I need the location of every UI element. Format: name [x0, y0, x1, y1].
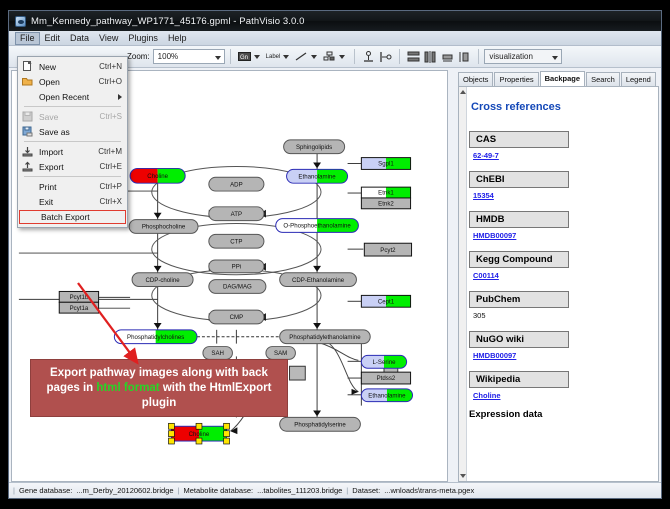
pathvisio-icon [15, 16, 26, 27]
dataset-value: ...wnloads\trans-meta.pgex [384, 486, 474, 495]
pathway-metabolite-node: SAM [266, 347, 296, 360]
status-divider-3: | [346, 486, 348, 495]
menu-item-batch-export[interactable]: Batch Export [19, 210, 126, 224]
selection-handle [196, 423, 202, 429]
node-label: CDP-choline [145, 277, 180, 284]
node-label: Ethanolamine [368, 392, 406, 399]
pathway-gene-node: Cept1 [361, 295, 410, 307]
pathway-metabolite-node: Ethanolamine [287, 169, 348, 183]
empty-icon-slot-4 [22, 211, 37, 224]
empty-icon-slot [20, 90, 35, 103]
sidebar-tabs: Objects Properties Backpage Search Legen… [449, 70, 659, 86]
menu-item-label: Export [35, 162, 100, 172]
same-width-icon[interactable] [440, 49, 455, 64]
pathway-metabolite-node: Phosphatidylcholines [114, 330, 197, 344]
node-label: ATP [231, 211, 242, 218]
xref-value[interactable]: 15354 [473, 191, 648, 200]
chevron-down-icon-2 [552, 56, 558, 60]
file-menu-dropdown[interactable]: New Ctrl+N Open Ctrl+O Open Recent Save … [17, 56, 128, 228]
window-title: Mm_Kennedy_pathway_WP1771_45176.gpml - P… [31, 16, 305, 27]
xref-value[interactable]: HMDB00097 [473, 231, 648, 240]
dataset-label: Dataset: [352, 486, 380, 495]
xref-header: ChEBI [469, 171, 569, 188]
menu-separator-3 [24, 176, 121, 177]
xref-value[interactable]: Choline [473, 391, 648, 400]
distribute-horizontal-icon[interactable] [423, 49, 438, 64]
menu-item-label: New [35, 62, 99, 72]
node-label: ADP [230, 181, 243, 188]
pathvisio-window: Mm_Kennedy_pathway_WP1771_45176.gpml - P… [8, 10, 662, 499]
node-label: CDP-Ethanolamine [292, 277, 345, 284]
menu-help[interactable]: Help [163, 32, 192, 45]
xref-header: NuGO wiki [469, 331, 569, 348]
selection-handle [224, 431, 230, 437]
label-dropdown-icon[interactable] [283, 55, 289, 59]
pathway-gene-node: Pcyt1b [59, 291, 98, 302]
pathway-metabolite-node: CMP [209, 310, 264, 324]
node-label: PPi [232, 264, 241, 271]
xref-link[interactable]: 62-49-7 [473, 151, 499, 160]
chevron-down-icon [215, 56, 221, 60]
tab-backpage[interactable]: Backpage [540, 71, 585, 86]
node-label: Phosphatidylcholines [127, 334, 184, 341]
zoom-label: Zoom: [127, 52, 150, 61]
node-label: Pcyt1b [70, 294, 89, 301]
zoom-value: 100% [158, 52, 178, 61]
gene-database-label: Gene database: [19, 486, 72, 495]
selection-handle [168, 431, 174, 437]
menu-item-new[interactable]: New Ctrl+N [18, 59, 127, 74]
menu-item-label: Save as [35, 127, 122, 137]
pathway-metabolite-node: Choline [168, 423, 229, 444]
zoom-select[interactable]: 100% [153, 49, 225, 64]
interaction-icon[interactable] [322, 49, 337, 64]
open-folder-icon [20, 75, 35, 88]
xref-link[interactable]: C00114 [473, 271, 499, 280]
xref-entry-chebi: ChEBI 15354 [469, 169, 648, 200]
pathway-gene-node: Ptdss2 [361, 372, 410, 384]
pathway-metabolite-node: Phosphatidylserine [280, 417, 361, 431]
menu-item-label: Print [35, 182, 100, 192]
backpage-content: Cross references CAS 62-49-7 ChEBI 15354… [458, 86, 659, 482]
status-divider-2: | [178, 486, 180, 495]
node-label: Phosphatidylserine [294, 422, 346, 429]
toolbar-separator-4 [478, 49, 479, 64]
menu-separator-1 [24, 106, 121, 107]
menu-item-shortcut: Ctrl+P [100, 182, 125, 191]
node-label: Sgpl1 [378, 161, 394, 168]
menu-edit[interactable]: Edit [40, 32, 66, 45]
pathway-metabolite-node: ATP [209, 207, 264, 221]
menu-plugins[interactable]: Plugins [123, 32, 163, 45]
xref-value[interactable]: 62-49-7 [473, 151, 648, 160]
save-disk-icon [20, 110, 35, 123]
label-icon[interactable]: Label [264, 54, 283, 60]
node-label: O-Phosphoethanolamine [283, 223, 351, 230]
node-label: CTP [230, 238, 242, 245]
tab-properties[interactable]: Properties [494, 72, 538, 86]
xref-header: HMDB [469, 211, 569, 228]
selection-handle [224, 423, 230, 429]
toolbar-separator [230, 49, 231, 64]
menu-item-shortcut: Ctrl+S [100, 112, 125, 121]
menu-view[interactable]: View [94, 32, 123, 45]
node-label: Choline [189, 431, 210, 438]
menu-item-label: Batch Export [37, 212, 123, 222]
selection-handle [168, 438, 174, 444]
xref-value[interactable]: C00114 [473, 271, 648, 280]
save-as-icon [20, 125, 35, 138]
tab-objects[interactable]: Objects [458, 72, 493, 86]
node-label: Pcyt2 [380, 247, 396, 254]
node-label: Phosphocholine [142, 224, 186, 231]
interaction-dropdown-icon[interactable] [339, 55, 345, 59]
menu-data[interactable]: Data [65, 32, 94, 45]
toolbar-separator-2 [354, 49, 355, 64]
pathway-gene-node: Etnk1 [361, 187, 410, 198]
pathway-metabolite-node: CDP-Ethanolamine [280, 273, 357, 287]
pathway-metabolite-node: CDP-choline [132, 273, 193, 287]
node-label: Phosphatidylethanolamine [289, 334, 361, 341]
svg-text:Gn: Gn [240, 55, 248, 61]
cross-references-title: Cross references [471, 101, 648, 113]
visualization-value: visualization [489, 52, 533, 61]
status-divider: | [13, 486, 15, 495]
node-label: SAH [211, 350, 224, 357]
annotation-text-after: with the HtmlExport plugin [142, 382, 272, 409]
align-top-icon[interactable] [361, 49, 376, 64]
menu-item-open-recent[interactable]: Open Recent [18, 89, 127, 104]
pathway-gene-node: Sgpl1 [361, 158, 410, 170]
pathway-gene-node: Pcyt1a [59, 302, 98, 313]
xref-entry-kegg: Kegg Compound C00114 [469, 249, 648, 280]
menu-separator-2 [24, 141, 121, 142]
toolbar-separator-3 [399, 49, 400, 64]
expression-data-label: Expression data [469, 409, 648, 420]
annotation-callout: Export pathway images along with back pa… [30, 359, 288, 417]
node-label: Ptdss2 [377, 375, 396, 382]
pathway-metabolite-node: CTP [209, 234, 264, 248]
menu-item-print[interactable]: Print Ctrl+P [18, 179, 127, 194]
menu-item-label: Open Recent [35, 92, 118, 102]
xref-value: 305 [473, 311, 648, 320]
menu-item-open[interactable]: Open Ctrl+O [18, 74, 127, 89]
xref-entry-nugo: NuGO wiki HMDB00097 [469, 329, 648, 360]
node-label: Etnk1 [378, 190, 394, 197]
status-bar: | Gene database: ...m_Derby_20120602.bri… [9, 482, 661, 498]
menu-item-shortcut: Ctrl+X [100, 197, 125, 206]
xref-header: PubChem [469, 291, 569, 308]
xref-header: Wikipedia [469, 371, 569, 388]
new-document-icon [20, 60, 35, 73]
menu-item-shortcut: Ctrl+E [100, 162, 125, 171]
node-label: Etnk2 [378, 201, 394, 208]
menu-item-shortcut: Ctrl+N [99, 62, 125, 71]
same-height-icon[interactable] [457, 49, 472, 64]
pathway-metabolite-node: Sphingolipids [284, 140, 345, 154]
datanode-dropdown-icon[interactable] [254, 55, 260, 59]
menu-item-export[interactable]: Export Ctrl+E [18, 159, 127, 174]
pathway-metabolite-node: DAG/MAG [209, 280, 266, 294]
xref-header: CAS [469, 131, 569, 148]
pathway-metabolite-node: O-Phosphoethanolamine [276, 219, 359, 233]
sidebar-panel: Objects Properties Backpage Search Legen… [449, 70, 659, 482]
distribute-vertical-icon[interactable] [406, 49, 421, 64]
pathway-metabolite-node: ADP [209, 177, 264, 191]
xref-link[interactable]: HMDB00097 [473, 351, 516, 360]
node-label: Ethanolamine [298, 174, 336, 181]
scroll-up-icon[interactable] [460, 88, 466, 94]
xref-entry-cas: CAS 62-49-7 [469, 129, 648, 160]
metabolite-database-value: ...tabolites_111203.bridge [257, 486, 342, 495]
pathway-metabolite-node: Choline [130, 168, 185, 183]
import-icon [20, 145, 35, 158]
xref-link[interactable]: 15354 [473, 191, 494, 200]
menu-item-save-as[interactable]: Save as [18, 124, 127, 139]
node-label: DAG/MAG [223, 284, 252, 291]
selection-handle [168, 423, 174, 429]
tab-search[interactable]: Search [586, 72, 620, 86]
xref-entry-pubchem: PubChem 305 [469, 289, 648, 320]
line-icon[interactable] [294, 49, 309, 64]
menu-item-import[interactable]: Import Ctrl+M [18, 144, 127, 159]
menu-item-shortcut: Ctrl+M [98, 147, 125, 156]
scroll-down-icon[interactable] [460, 474, 466, 480]
datanode-icon[interactable]: Gn [237, 49, 252, 64]
menu-item-label: Open [35, 77, 99, 87]
selection-handle [196, 438, 202, 444]
menu-item-label: Save [35, 112, 100, 122]
submenu-arrow-icon [118, 94, 122, 100]
xref-link[interactable]: HMDB00097 [473, 231, 516, 240]
menu-file[interactable]: File [15, 32, 40, 45]
empty-icon-slot-2 [20, 180, 35, 193]
menu-item-exit[interactable]: Exit Ctrl+X [18, 194, 127, 209]
pathway-gene-node: Pcyt2 [364, 243, 411, 256]
empty-icon-slot-3 [20, 195, 35, 208]
node-label: CMP [230, 314, 244, 321]
pathway-metabolite-node: L-Serine [361, 355, 406, 368]
node-label: SAM [274, 350, 287, 357]
menu-item-label: Exit [35, 197, 100, 207]
sidebar-scrollbar[interactable] [459, 87, 467, 481]
node-label: L-Serine [372, 359, 396, 366]
align-left-icon[interactable] [378, 49, 393, 64]
visualization-select[interactable]: visualization [484, 49, 562, 64]
pathway-gene-node: Etnk2 [361, 198, 410, 209]
xref-entry-hmdb: HMDB HMDB00097 [469, 209, 648, 240]
menu-item-shortcut: Ctrl+O [99, 77, 125, 86]
tab-legend[interactable]: Legend [621, 72, 656, 86]
metabolite-database-label: Metabolite database: [183, 486, 253, 495]
xref-header: Kegg Compound [469, 251, 569, 268]
xref-link[interactable]: Choline [473, 391, 501, 400]
xref-value[interactable]: HMDB00097 [473, 351, 648, 360]
annotation-highlight: html format [96, 382, 159, 394]
pathway-metabolite-node: PPi [209, 260, 264, 273]
node-label: Choline [147, 173, 168, 180]
export-icon [20, 160, 35, 173]
xref-entry-wikipedia: Wikipedia Choline [469, 369, 648, 400]
pathway-metabolite-node: SAH [203, 347, 233, 360]
menu-bar: File Edit Data View Plugins Help [9, 31, 661, 46]
pathway-metabolite-node: Phosphatidylethanolamine [280, 330, 371, 344]
menu-item-label: Import [35, 147, 98, 157]
node-label: Pcyt1a [70, 305, 89, 312]
window-titlebar: Mm_Kennedy_pathway_WP1771_45176.gpml - P… [9, 11, 661, 31]
pathway-metabolite-node: Phosphocholine [129, 220, 198, 234]
node-label: Sphingolipids [296, 144, 332, 151]
node-label: Cept1 [378, 298, 395, 305]
menu-item-save: Save Ctrl+S [18, 109, 127, 124]
pathway-metabolite-node: Ethanolamine [361, 389, 412, 402]
line-dropdown-icon[interactable] [311, 55, 317, 59]
selection-handle [224, 438, 230, 444]
gene-database-value: ...m_Derby_20120602.bridge [76, 486, 173, 495]
